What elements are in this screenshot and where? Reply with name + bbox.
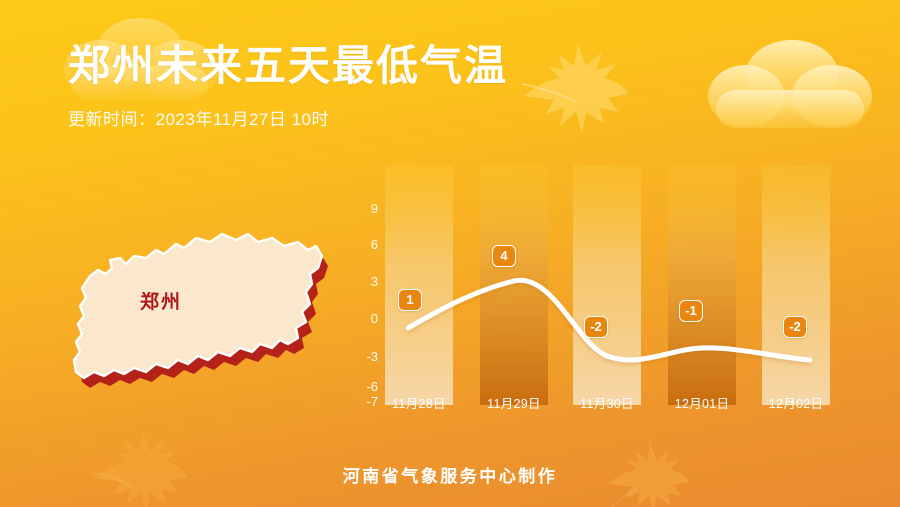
x-tick-day-3: 11月30日 <box>567 398 647 411</box>
henan-province-map <box>60 212 340 412</box>
update-time: 更新时间：2023年11月27日 10时 <box>68 105 508 130</box>
x-tick-day-4: 12月01日 <box>662 398 742 411</box>
chart-canvas <box>340 160 885 420</box>
band-day-1 <box>385 165 453 405</box>
data-label-day-1: 1 <box>398 289 422 311</box>
header: 郑州未来五天最低气温 更新时间：2023年11月27日 10时 <box>68 42 508 130</box>
cloud-icon <box>700 30 880 142</box>
band-day-3 <box>573 165 641 405</box>
data-label-day-4: -1 <box>679 300 703 322</box>
maple-leaf-icon <box>520 40 630 140</box>
y-tick-n6: -6 <box>366 380 378 393</box>
band-day-4 <box>668 165 736 405</box>
x-tick-day-5: 12月02日 <box>756 398 836 411</box>
y-axis: 9 6 3 0 -3 -6 -7 <box>340 160 382 410</box>
temperature-chart: 9 6 3 0 -3 -6 -7 1 4 -2 -1 -2 11月28日 11月… <box>340 160 885 420</box>
footer-credit: 河南省气象服务中心制作 <box>0 462 900 487</box>
chart-bands <box>385 165 830 405</box>
data-label-day-5: -2 <box>783 316 807 338</box>
map-city-label: 郑州 <box>140 287 182 314</box>
y-tick-0: 0 <box>371 312 378 325</box>
page-title: 郑州未来五天最低气温 <box>68 42 508 89</box>
y-tick-n3: -3 <box>366 350 378 363</box>
data-label-day-2: 4 <box>492 245 516 267</box>
y-tick-6: 6 <box>371 238 378 251</box>
x-axis: 11月28日 11月29日 11月30日 12月01日 12月02日 <box>340 398 885 422</box>
y-tick-9: 9 <box>371 202 378 215</box>
data-label-day-3: -2 <box>584 316 608 338</box>
x-tick-day-2: 11月29日 <box>474 398 554 411</box>
band-day-5 <box>762 165 830 405</box>
x-tick-day-1: 11月28日 <box>379 398 459 411</box>
y-tick-3: 3 <box>371 275 378 288</box>
